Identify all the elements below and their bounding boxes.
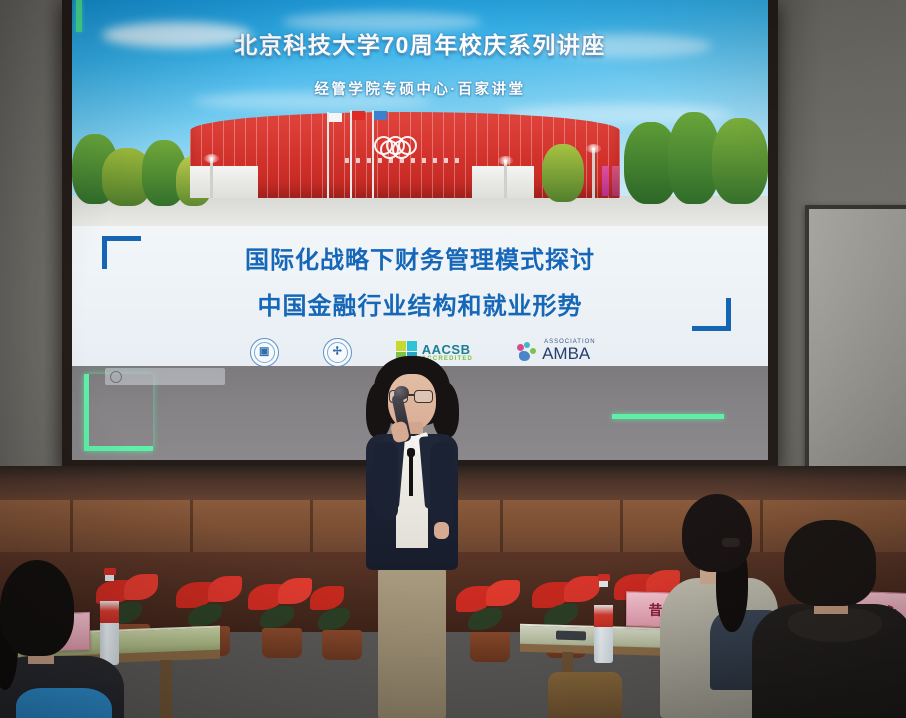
street-lamp-head bbox=[204, 154, 219, 163]
slide-hero-photo bbox=[72, 104, 768, 226]
street-lamp bbox=[504, 160, 507, 198]
bottle-label bbox=[594, 605, 613, 627]
panel-seam bbox=[190, 500, 193, 554]
osd-face-icon bbox=[110, 371, 122, 383]
ustb-seal-logo: ▣ bbox=[250, 338, 279, 367]
poinsettia-leaf bbox=[318, 608, 350, 630]
poinsettia-bract bbox=[208, 576, 242, 602]
flag-white bbox=[329, 113, 342, 122]
plaza-wall bbox=[472, 166, 534, 198]
green-bracket-accent bbox=[84, 374, 153, 451]
poinsettia-bract bbox=[278, 578, 312, 604]
speaker bbox=[352, 356, 472, 718]
projector-osd-toolbar[interactable] bbox=[105, 368, 225, 385]
chair-back-secondary bbox=[548, 672, 622, 718]
photo-scene: 北京科技大学70周年校庆系列讲座 经管学院专硕中心·百家讲堂 bbox=[0, 0, 906, 718]
audience-front-left bbox=[0, 560, 124, 718]
panel-seam bbox=[70, 500, 73, 554]
hair-tie bbox=[722, 538, 740, 547]
street-lamp-head bbox=[498, 156, 513, 165]
poinsettia-bract bbox=[486, 580, 520, 606]
speaker-arm-left bbox=[374, 442, 398, 520]
table-left-leg bbox=[160, 660, 172, 718]
flower-pot bbox=[262, 628, 302, 658]
flagpole bbox=[327, 112, 329, 198]
plaza-wall bbox=[190, 166, 258, 198]
speaker-hand-right bbox=[434, 522, 449, 539]
flagpole bbox=[350, 110, 352, 198]
audience-garment bbox=[16, 688, 112, 718]
amba-mark-icon bbox=[517, 342, 539, 362]
flower-pot bbox=[470, 632, 510, 662]
flagpole bbox=[372, 110, 374, 198]
amba-logo: ASSOCIATION AMBA bbox=[517, 342, 590, 362]
amba-sublabel: ASSOCIATION bbox=[544, 339, 596, 345]
speaker-trousers bbox=[378, 566, 446, 718]
business-school-seal-logo: ✢ bbox=[323, 338, 352, 367]
banner bbox=[602, 166, 609, 196]
tree bbox=[712, 118, 768, 204]
panel-seam bbox=[620, 500, 623, 554]
stadium-signage bbox=[345, 158, 465, 163]
aacsb-label: AACSB bbox=[422, 343, 473, 356]
flag-blue bbox=[374, 111, 387, 120]
audience-hair bbox=[682, 494, 752, 572]
slide-main-title-line2: 中国金融行业结构和就业形势 bbox=[72, 286, 768, 321]
glasses-right-lens bbox=[414, 390, 433, 403]
audience-far-right bbox=[760, 520, 906, 718]
amba-label: AMBA bbox=[542, 345, 590, 362]
slide-header-title: 北京科技大学70周年校庆系列讲座 bbox=[72, 26, 768, 60]
flag-red bbox=[352, 111, 365, 120]
poinsettia-bract bbox=[310, 586, 344, 610]
banner bbox=[612, 166, 619, 196]
street-lamp bbox=[592, 148, 595, 198]
audience-hair bbox=[784, 520, 876, 606]
street-lamp-head bbox=[586, 144, 601, 153]
tree bbox=[542, 144, 584, 202]
audience-hair bbox=[0, 560, 74, 656]
green-line-accent bbox=[612, 414, 724, 419]
slide-main-title-line1: 国际化战略下财务管理模式探讨 bbox=[72, 240, 768, 275]
smartphone bbox=[556, 631, 586, 641]
street-lamp bbox=[210, 158, 213, 198]
green-top-accent bbox=[76, 0, 82, 32]
poinsettia-bract bbox=[124, 574, 158, 600]
water-bottle-right bbox=[594, 574, 613, 663]
whiteboard bbox=[805, 205, 906, 488]
panel-seam bbox=[500, 500, 503, 554]
seal-glyph: ▣ bbox=[259, 347, 269, 358]
seal-glyph: ✢ bbox=[333, 347, 342, 358]
panel-seam bbox=[310, 500, 313, 554]
olympic-rings-icon bbox=[374, 136, 436, 152]
speaker-arm-right bbox=[430, 442, 454, 528]
slide-header-subtitle: 经管学院专硕中心·百家讲堂 bbox=[72, 78, 768, 99]
ribbon-tie-tail bbox=[409, 456, 413, 496]
